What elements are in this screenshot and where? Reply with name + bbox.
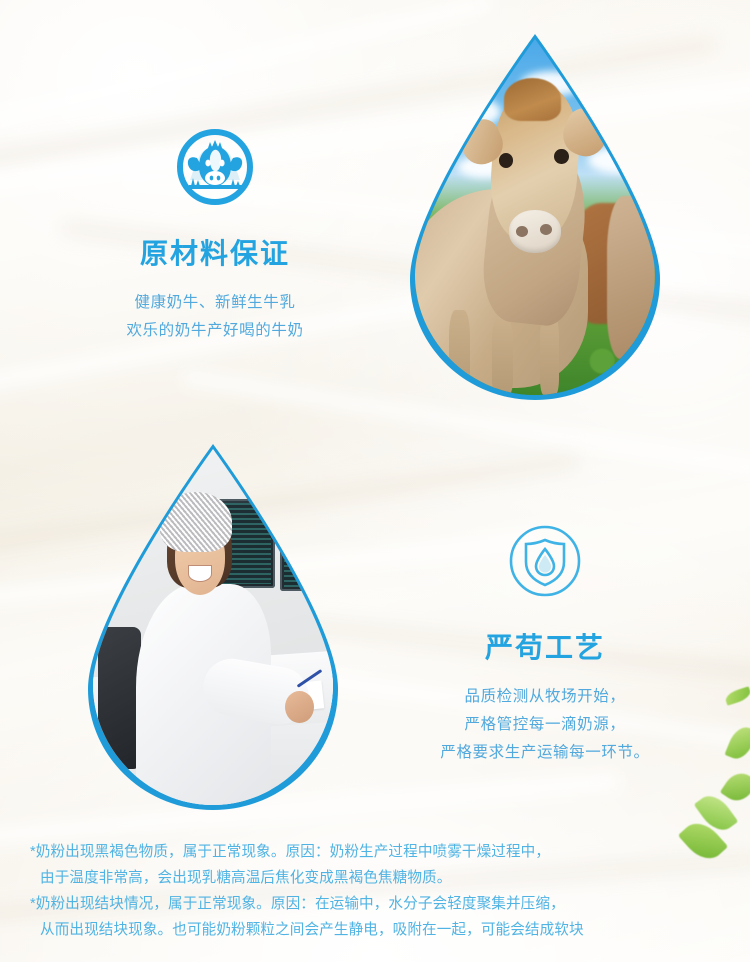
footnote-line: *奶粉出现黑褐色物质，属于正常现象。原因：奶粉生产过程中喷雾干燥过程中， xyxy=(30,840,730,866)
feature-subtitle-line: 欢乐的奶牛产好喝的牛奶 xyxy=(40,317,390,345)
feature-subtitle-line: 品质检测从牧场开始， xyxy=(360,683,730,711)
footnote-line: 从而出现结块现象。也可能奶粉颗粒之间会产生静电，吸附在一起，可能会结成软块 xyxy=(30,918,730,944)
footnote-line: 由于温度非常高，会出现乳糖高温后焦化变成黑褐色焦糖物质。 xyxy=(30,866,730,892)
feature-title: 原材料保证 xyxy=(40,237,390,271)
cow-in-pasture-photo xyxy=(410,34,660,400)
feature-raw-material-guarantee: 原材料保证 健康奶牛、新鲜生牛乳 欢乐的奶牛产好喝的牛奶 xyxy=(40,128,390,345)
footnote-line: *奶粉出现结块情况，属于正常现象。原因：在运输中，水分子会轻度聚集并压缩， xyxy=(30,892,730,918)
product-detail-page: 原材料保证 健康奶牛、新鲜生牛乳 欢乐的奶牛产好喝的牛奶 xyxy=(0,0,750,962)
feature-subtitle-line: 严格要求生产运输每一环节。 xyxy=(360,739,730,767)
feature-title: 严苟工艺 xyxy=(360,631,730,665)
footnote-disclaimer: *奶粉出现黑褐色物质，属于正常现象。原因：奶粉生产过程中喷雾干燥过程中， 由于温… xyxy=(30,840,730,944)
lab-technician-photo xyxy=(88,444,338,810)
cow-head-icon xyxy=(40,128,390,211)
feature-subtitle-line: 严格管控每一滴奶源， xyxy=(360,711,730,739)
feature-subtitle: 健康奶牛、新鲜生牛乳 欢乐的奶牛产好喝的牛奶 xyxy=(40,289,390,345)
feature-strict-craftsmanship: 严苟工艺 品质检测从牧场开始， 严格管控每一滴奶源， 严格要求生产运输每一环节。 xyxy=(360,522,730,767)
shield-droplet-icon xyxy=(360,522,730,605)
droplet-photo-clip xyxy=(93,449,333,805)
feature-subtitle-line: 健康奶牛、新鲜生牛乳 xyxy=(40,289,390,317)
feature-subtitle: 品质检测从牧场开始， 严格管控每一滴奶源， 严格要求生产运输每一环节。 xyxy=(360,683,730,768)
droplet-photo-clip xyxy=(415,39,655,395)
